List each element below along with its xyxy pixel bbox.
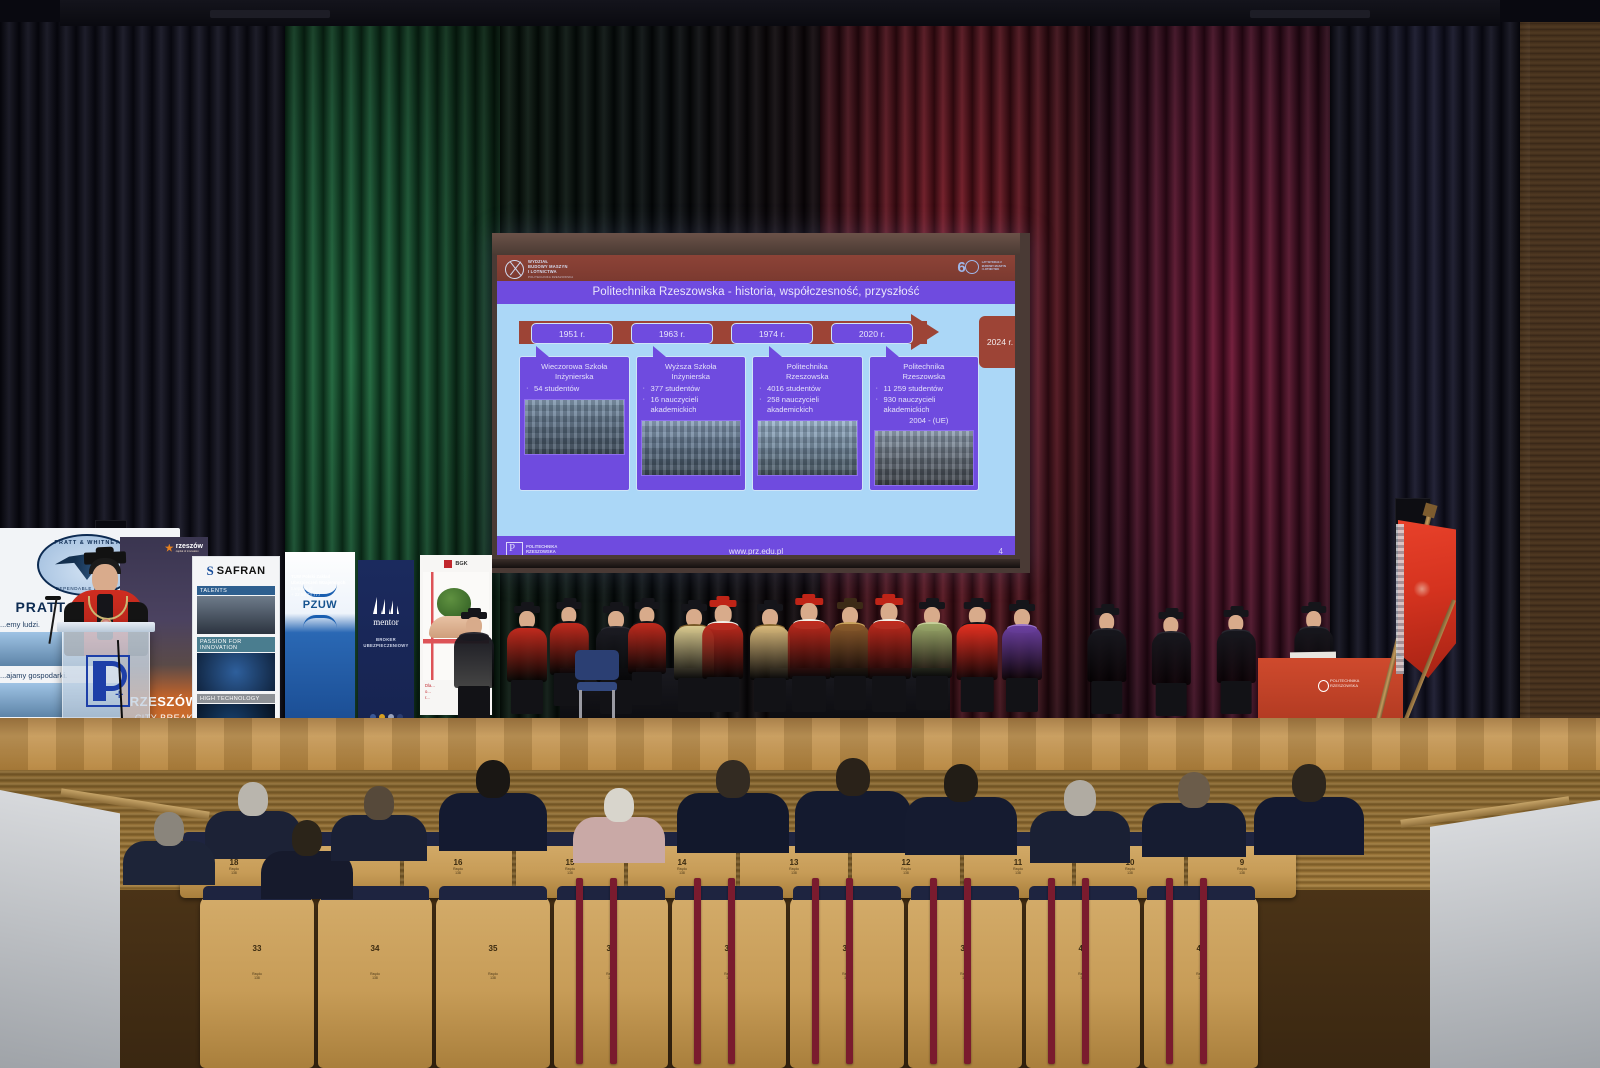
academic-legs [792, 676, 826, 712]
seated-academic [910, 602, 954, 716]
bgk-mark-icon [444, 560, 452, 568]
card-2-bullet-0: 4016 studentów [767, 384, 858, 395]
timeline-card-1: Wyższa Szkoła Inżynierska 377 studentów … [636, 356, 747, 491]
faculty-logo: WYDZIAŁ BUDOWY MASZYN I LOTNICTWA POLITE… [505, 259, 573, 280]
reserved-ribbon [964, 878, 971, 1064]
anniversary-caption: LAT WYDZIAŁU BUDOWY MASZYN I LOTNICTWA [982, 261, 1006, 271]
audience-member-back-6-shoulders [795, 791, 911, 853]
table-logo-emblem-icon [1318, 680, 1329, 692]
pzuw-desc-4: + 22 58 23 777 [291, 592, 349, 598]
seat-sublabel: Rzędu138 [318, 972, 432, 980]
academic-robe [702, 623, 744, 679]
audience-member-back-3-head [476, 760, 510, 798]
audience-member-back-5-head [716, 760, 750, 798]
seat-front-34[interactable]: 34Rzędu138 [318, 896, 432, 1068]
card-3-bullet-3: 2004 - (UE) [884, 416, 975, 427]
academic-robe [750, 626, 790, 680]
academic-robe [507, 628, 547, 682]
card-2-photo [757, 420, 858, 476]
card-2-bullets: 4016 studentów 258 nauczycieli akademick… [757, 384, 858, 416]
card-2-name-line1: Politechnika [757, 362, 858, 372]
seat-number: 13 [740, 858, 848, 867]
seat-number: 9 [1188, 858, 1296, 867]
aisle-wall-left [0, 790, 120, 1068]
timeline-card-3: Politechnika Rzeszowska 11 259 studentów… [869, 356, 980, 491]
faculty-emblem-icon [505, 260, 524, 279]
mentor-sub-2: UBEZPIECZENIOWY [358, 643, 414, 649]
seat-sublabel: Rzędu138 [1188, 867, 1296, 875]
academic-robe [628, 623, 666, 674]
empty-chair [575, 650, 619, 718]
microphone-head-icon [45, 596, 61, 600]
academic-legs [511, 680, 543, 714]
pzuw-wordmark: PZUW [285, 599, 355, 611]
audience-member-back-7-shoulders [905, 797, 1017, 855]
card-3-bullet-0: 11 259 studentów [884, 384, 975, 395]
timeline-year-1: 1963 r. [631, 323, 713, 344]
card-3-bullet-2: akademickich [884, 405, 975, 416]
audience-member-back-9-shoulders [1142, 803, 1246, 857]
card-2-bullet-1: 258 nauczycieli [767, 395, 858, 406]
academic-legs [1091, 681, 1122, 714]
slide-footer-url: www.prz.edu.pl [729, 547, 783, 556]
anniversary-logo: 6 LAT WYDZIAŁU BUDOWY MASZYN I LOTNICTWA [957, 258, 1006, 275]
academic-robe [788, 621, 830, 678]
seat-number: 34 [318, 944, 432, 953]
seat-sublabel: Rzędu138 [200, 972, 314, 980]
card-3-bullets: 11 259 studentów 930 nauczycieli akademi… [874, 384, 975, 426]
university-emblem-icon [506, 542, 523, 555]
seat-number: 33 [200, 944, 314, 953]
timeline-card-2: Politechnika Rzeszowska 4016 studentów 2… [752, 356, 863, 491]
card-1-bullet-2: akademickich [651, 405, 742, 416]
timeline-arrow-head-icon [911, 314, 939, 350]
card-1-bullet-0: 377 studentów [651, 384, 742, 395]
slide-header-bar: WYDZIAŁ BUDOWY MASZYN I LOTNICTWA POLITE… [497, 255, 1015, 281]
flag-fringe [1396, 524, 1404, 674]
slide-body: 1951 r. 1963 r. 1974 r. 2020 r. 2024 r. … [497, 304, 1015, 536]
mentor-subtitle: BROKER UBEZPIECZENIOWY [358, 637, 414, 649]
academic-robe [957, 624, 998, 679]
seat-sublabel: Rzędu138 [516, 867, 624, 875]
academic-legs [1221, 681, 1252, 714]
ceiling-trim-left [210, 10, 330, 18]
bgk-logo: BGK [420, 555, 492, 570]
audience-member-back-5-shoulders [677, 793, 789, 853]
reserved-ribbon [694, 878, 701, 1064]
card-3-name-line1: Politechnika [874, 362, 975, 372]
slide-page-number: 4 [999, 547, 1003, 556]
timeline-arrow: 1951 r. 1963 r. 1974 r. 2020 r. 2024 r. [519, 314, 967, 350]
seated-academic [626, 602, 668, 716]
seat-sublabel: Rzędu138 [1076, 867, 1184, 875]
timeline-card-0: Wieczorowa Szkoła Inżynierska 54 student… [519, 356, 630, 491]
card-1-bullets: 377 studentów 16 nauczycieli akademickic… [641, 384, 742, 416]
rzeszow-brand: rzeszów [176, 543, 203, 550]
banner-mentor: mentor BROKER UBEZPIECZENIOWY www.mentor… [358, 560, 414, 742]
audience-member-back-11-shoulders [123, 841, 215, 885]
academic-robe [1217, 631, 1255, 683]
reserved-ribbon [610, 878, 617, 1064]
chair-leg-right [612, 690, 615, 718]
card-0-bullets: 54 studentów [524, 384, 625, 395]
mentor-wordmark: mentor [358, 617, 414, 627]
banner-pzuw: PZUW TUW Polski Zakład Ubezpieczeń Wzaje… [285, 552, 355, 744]
audience-member-back-6-head [836, 758, 870, 796]
reserved-ribbon [576, 878, 583, 1064]
audience-member-back-10-head [1292, 764, 1326, 802]
card-1-name-line1: Wyższa Szkoła [641, 362, 742, 372]
audience-member-back-10-shoulders [1254, 797, 1364, 855]
seated-academic [505, 606, 549, 716]
card-1-name-line2: Inżynierska [641, 372, 742, 382]
anniversary-ring-icon [965, 260, 979, 274]
anniversary-line3: I LOTNICTWA [982, 268, 1006, 271]
safran-caption-3: HIGH TECHNOLOGY [197, 694, 275, 703]
seat-sublabel: Rzędu138 [404, 867, 512, 875]
chair-seat [577, 682, 617, 691]
reserved-ribbon [812, 878, 819, 1064]
audience-member-back-9-head [1178, 772, 1210, 808]
seated-academic [1000, 604, 1044, 716]
card-3-photo [874, 430, 975, 486]
seated-academic [1150, 612, 1192, 716]
card-2-bullet-2: akademickich [767, 405, 858, 416]
audience-member-back-11-head [154, 812, 184, 846]
rzeszow-tagline: capital of innovation [176, 550, 203, 553]
academic-legs [632, 672, 662, 704]
safran-logo: S SAFRAN [193, 557, 279, 583]
lectern-university-logo-icon: ✛ [86, 655, 130, 707]
academic-robe [830, 624, 870, 678]
seat-sublabel: Rzędu138 [740, 867, 848, 875]
safran-caption-2: PASSION FOR INNOVATION [197, 637, 275, 652]
timeline-year-2: 1974 r. [731, 323, 813, 344]
audience-member-back-2-shoulders [331, 815, 427, 861]
presentation-slide: WYDZIAŁ BUDOWY MASZYN I LOTNICTWA POLITE… [497, 255, 1015, 555]
seat-number: 12 [852, 858, 960, 867]
table-logo-text: POLITECHNIKA RZESZOWSKA [1330, 678, 1359, 688]
lectern-top [57, 622, 155, 632]
safran-photo-1 [197, 596, 275, 634]
university-logo: POLITECHNIKA RZESZOWSKA IM. IGNACEGO ŁUK… [506, 542, 564, 555]
slide-footer: POLITECHNIKA RZESZOWSKA IM. IGNACEGO ŁUK… [497, 536, 1015, 555]
seat-number: 35 [436, 944, 550, 953]
aisle-wall-right [1430, 800, 1600, 1068]
flag-emblem-icon [1414, 580, 1430, 598]
faculty-logo-sub: POLITECHNIKA RZESZOWSKA [528, 275, 573, 280]
timeline-end-year: 2024 r. [979, 316, 1015, 368]
card-0-name-line1: Wieczorowa Szkoła [524, 362, 625, 372]
timeline-cards: Wieczorowa Szkoła Inżynierska 54 student… [519, 356, 979, 491]
screen-bottom-shadow [492, 559, 1020, 568]
academic-legs [834, 676, 866, 710]
timeline-year-0: 1951 r. [531, 323, 613, 344]
seat-cushion [439, 886, 546, 900]
safran-photo-2 [197, 653, 275, 691]
pzuw-arc-bottom [303, 615, 337, 628]
timeline-year-3: 2020 r. [831, 323, 913, 344]
bgk-wordmark: BGK [455, 561, 467, 567]
safran-caption-1: TALENTS [197, 586, 275, 595]
seat-sublabel: Rzędu138 [964, 867, 1072, 875]
seated-academic [1085, 608, 1128, 716]
rzeszow-brand-block: rzeszów capital of innovation [176, 543, 203, 553]
seated-academic [866, 598, 913, 716]
audience-member-back-2-head [364, 786, 394, 820]
card-1-photo [641, 420, 742, 476]
academic-legs [1156, 683, 1187, 716]
academic-robe [1002, 626, 1042, 680]
audience-member-back-4-head [604, 788, 634, 822]
academic-legs [706, 677, 739, 712]
slide-title: Politechnika Rzeszowska - historia, wspó… [497, 281, 1015, 304]
card-2-name-line2: Rzeszowska [757, 372, 858, 382]
anniversary-number: 6 [957, 258, 978, 275]
audience-member-back-3-shoulders [439, 793, 547, 851]
academic-robe [454, 634, 494, 688]
reserved-ribbon [846, 878, 853, 1064]
seat-front-35[interactable]: 35Rzędu138 [436, 896, 550, 1068]
academic-legs [872, 676, 906, 712]
safran-mark-icon: S [206, 563, 213, 579]
seat-sublabel: Rzędu138 [436, 972, 550, 980]
academic-legs [961, 677, 994, 712]
audience-member-back-7-head [944, 764, 978, 802]
chair-leg-left [579, 690, 582, 718]
card-3-name-line2: Rzeszowska [874, 372, 975, 382]
academic-legs [916, 676, 948, 710]
audience-member-back-1-head [292, 820, 322, 856]
academic-robe [1152, 633, 1190, 685]
card-0-bullet-0: 54 studentów [534, 384, 625, 395]
wood-wall-right [1520, 0, 1600, 800]
seat-sublabel: Rzędu138 [628, 867, 736, 875]
seated-academic [786, 598, 833, 716]
ceiling-trim-right [1250, 10, 1370, 18]
reserved-ribbon [728, 878, 735, 1064]
pzuw-description: TUW Polski Zakład Ubezpieczeń Wzajemnych… [285, 552, 355, 598]
academic-robe [912, 624, 952, 678]
academic-legs [754, 678, 786, 712]
seat-front-33[interactable]: 33Rzędu138 [200, 896, 314, 1068]
card-1-bullet-1: 16 nauczycieli [651, 395, 742, 406]
academic-robe [1087, 630, 1126, 683]
reserved-ribbon [1048, 878, 1055, 1064]
card-0-photo [524, 399, 625, 455]
audience-member-back-4-shoulders [573, 817, 665, 863]
audience-member-back-8-head [1064, 780, 1096, 816]
university-logo-text: POLITECHNIKA RZESZOWSKA IM. IGNACEGO ŁUK… [526, 544, 564, 555]
table-logo-line2: RZESZOWSKA [1330, 683, 1359, 688]
seat-sublabel: Rzędu138 [852, 867, 960, 875]
star-icon [165, 544, 174, 553]
seated-academic [700, 600, 746, 716]
auditorium-scene: WYDZIAŁ BUDOWY MASZYN I LOTNICTWA POLITE… [0, 0, 1600, 1068]
reserved-ribbon [1082, 878, 1089, 1064]
projection-screen-valance [492, 233, 1020, 255]
card-0-name-line2: Inżynierska [524, 372, 625, 382]
audience-member-back-0-head [238, 782, 268, 816]
academic-legs [1006, 678, 1038, 712]
academic-robe [868, 621, 910, 678]
audience-member-back-8-shoulders [1030, 811, 1130, 863]
reserved-ribbon [930, 878, 937, 1064]
reserved-ribbon [1166, 878, 1173, 1064]
academic-legs [458, 686, 490, 720]
seated-academic [955, 602, 1000, 716]
faculty-logo-text: WYDZIAŁ BUDOWY MASZYN I LOTNICTWA POLITE… [528, 259, 573, 280]
mentor-mark-icon [373, 594, 399, 614]
reserved-ribbon [1200, 878, 1207, 1064]
seated-academic [452, 612, 496, 716]
rzeszow-logo: rzeszów capital of innovation [165, 543, 203, 553]
university-logo-sub: IM. IGNACEGO ŁUKASIEWICZA [526, 554, 564, 555]
safran-wordmark: SAFRAN [217, 565, 266, 577]
chair-back [575, 650, 619, 680]
seated-academic [1215, 610, 1257, 716]
card-3-bullet-1: 930 nauczycieli [884, 395, 975, 406]
